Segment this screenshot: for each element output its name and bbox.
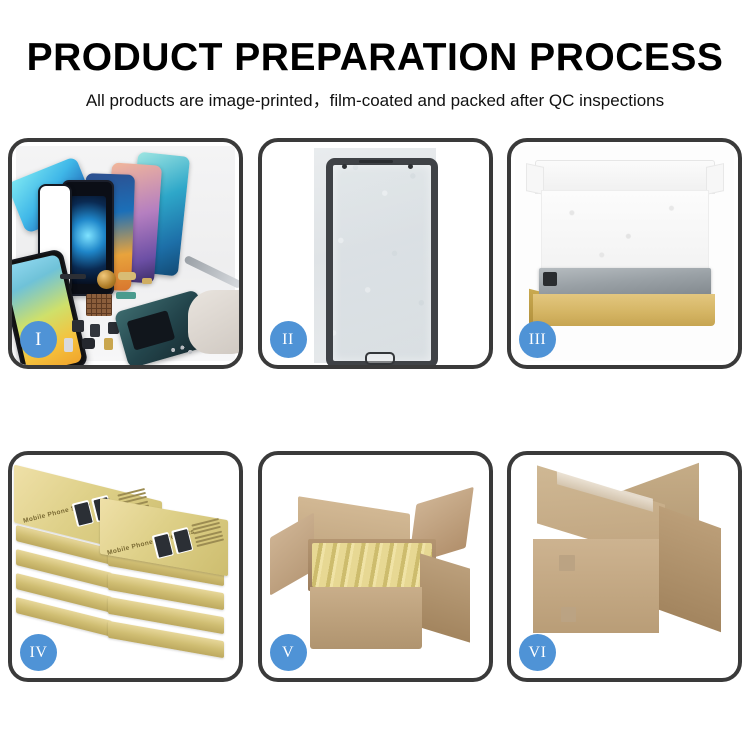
tape-tab-lower (561, 607, 576, 622)
page-title: PRODUCT PREPARATION PROCESS (0, 0, 750, 80)
step-panel-3[interactable]: III (507, 138, 742, 369)
tape-tab-upper (559, 555, 575, 571)
steps-row-top: I II (8, 138, 742, 369)
connector-part (60, 274, 86, 279)
ribbon-cable-part (116, 292, 136, 299)
copper-coil-part (97, 270, 116, 289)
hand-holding-tool (188, 290, 239, 354)
battery-connector-part (104, 338, 113, 350)
step-panel-2[interactable]: II (258, 138, 493, 369)
sealed-carton-front (533, 539, 659, 633)
camera-dot (408, 164, 413, 169)
screws-group (168, 344, 194, 356)
step-badge-1: I (20, 321, 57, 358)
step-panel-1[interactable]: I (8, 138, 243, 369)
packed-retail-boxes (312, 543, 432, 587)
gold-contact-part (142, 278, 152, 284)
box-lid-open (535, 160, 715, 194)
small-module-part (72, 320, 84, 332)
white-foam-padding (541, 190, 709, 270)
steps-row-bottom: Mobile Phone Spare Parts Mobile Phone Sp… (8, 451, 742, 682)
step-badge-3: III (519, 321, 556, 358)
product-preparation-infographic: PRODUCT PREPARATION PROCESS All products… (0, 0, 750, 750)
earpiece-dot (342, 164, 347, 169)
header: PRODUCT PREPARATION PROCESS All products… (0, 0, 750, 111)
step-badge-4: IV (20, 634, 57, 671)
page-subtitle: All products are image-printed，film-coat… (0, 80, 750, 111)
camera-module-part (90, 324, 100, 337)
chip-array-part (86, 294, 112, 316)
vibrator-part (82, 338, 95, 349)
kraft-box-front (533, 294, 715, 326)
sealed-carton-side (659, 506, 721, 633)
step-panel-5[interactable]: V (258, 451, 493, 682)
carton-front-panel (310, 587, 422, 649)
screen-glass-wrapped (326, 158, 438, 365)
step-panel-6[interactable]: VI (507, 451, 742, 682)
step-badge-5: V (270, 634, 307, 671)
sim-tray-part (64, 338, 73, 352)
steps-grid: I II (8, 138, 742, 682)
flex-cable-part (118, 272, 136, 280)
step-badge-2: II (270, 321, 307, 358)
carton-side-panel (420, 553, 470, 642)
step-panel-4[interactable]: Mobile Phone Spare Parts Mobile Phone Sp… (8, 451, 243, 682)
step-badge-6: VI (519, 634, 556, 671)
